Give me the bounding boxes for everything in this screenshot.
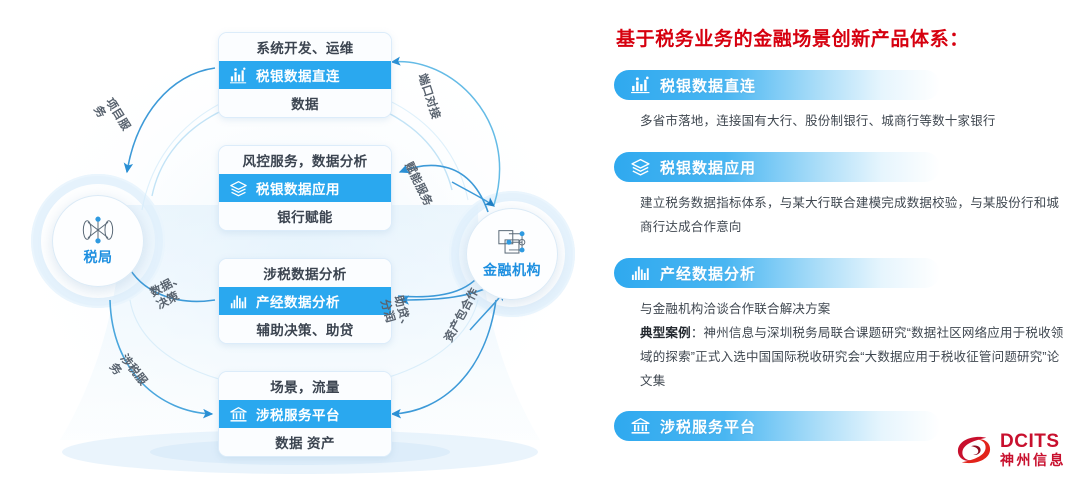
section-header[interactable]: 税银数据直连	[614, 70, 940, 100]
bank-building-icon	[229, 406, 248, 423]
entity-tax-bureau[interactable]: 税局	[52, 195, 144, 287]
case-lead-label: 典型案例	[640, 326, 691, 340]
stacked-layers-icon	[229, 180, 248, 197]
card-middle-row[interactable]: 税银数据应用	[219, 174, 391, 202]
section-industry-analysis: 产经数据分析 与金融机构洽谈合作联合解决方案 典型案例：神州信息与深圳税务局联合…	[614, 258, 1066, 393]
financial-institution-nodes-icon	[495, 228, 529, 258]
section-header[interactable]: 产经数据分析	[614, 258, 940, 288]
card-middle-row[interactable]: 产经数据分析	[219, 287, 391, 315]
card-bottom-label: 银行赋能	[219, 202, 391, 230]
ecosystem-diagram: 税局 金融机构 系统开发、运维	[0, 0, 600, 479]
section-body: 与金融机构洽谈合作联合解决方案 典型案例：神州信息与深圳税务局联合课题研究“数据…	[614, 297, 1066, 393]
card-top-label: 风控服务，数据分析	[219, 146, 391, 174]
section-body: 建立税务数据指标体系，与某大行联合建模完成数据校验，与某股份行和城商行达成合作意…	[614, 191, 1066, 239]
card-bottom-label: 数据	[219, 89, 391, 117]
entity-financial-institution[interactable]: 金融机构	[466, 208, 558, 300]
content-panel: 基于税务业务的金融场景创新产品体系： 税银数据直连 多省市落地，连接国有大行、股…	[600, 0, 1080, 479]
histogram-icon	[229, 293, 248, 310]
bank-building-icon	[630, 417, 651, 435]
logo-en-text: DCITS	[1000, 432, 1066, 451]
section-heading: 产经数据分析	[660, 263, 756, 284]
card-middle-label: 产经数据分析	[256, 291, 340, 311]
section-direct-connection: 税银数据直连 多省市落地，连接国有大行、股份制银行、城商行等数十家银行	[614, 70, 1066, 133]
slide-root: 税局 金融机构 系统开发、运维	[0, 0, 1080, 479]
stacked-layers-icon	[630, 158, 651, 176]
section-heading: 涉税服务平台	[660, 416, 756, 437]
section-heading: 税银数据直连	[660, 75, 756, 96]
logo-cn-text: 神州信息	[1000, 453, 1066, 467]
histogram-icon	[630, 264, 651, 282]
bar-chart-icon	[630, 76, 651, 94]
card-middle-row[interactable]: 涉税服务平台	[219, 400, 391, 428]
entity-tax-bureau-label: 税局	[84, 247, 113, 267]
page-title: 基于税务业务的金融场景创新产品体系：	[616, 24, 969, 51]
card-bottom-label: 辅助决策、助贷	[219, 315, 391, 343]
case-text: ：神州信息与深圳税务局联合课题研究“数据社区网络应用于税收领域的探索”正式入选中…	[640, 326, 1063, 388]
card-middle-row[interactable]: 税银数据直连	[219, 61, 391, 89]
card-middle-label: 涉税服务平台	[256, 404, 340, 424]
section-paragraph: 多省市落地，连接国有大行、股份制银行、城商行等数十家银行	[640, 109, 1066, 133]
section-paragraph: 与金融机构洽谈合作联合解决方案	[640, 297, 1066, 321]
tax-bureau-network-icon	[81, 215, 115, 245]
section-data-application: 税银数据应用 建立税务数据指标体系，与某大行联合建模完成数据校验，与某股份行和城…	[614, 152, 1066, 239]
card-top-label: 场景，流量	[219, 372, 391, 400]
card-top-label: 涉税数据分析	[219, 259, 391, 287]
section-body: 多省市落地，连接国有大行、股份制银行、城商行等数十家银行	[614, 109, 1066, 133]
card-industry-analysis[interactable]: 涉税数据分析 产经数据分析 辅助决策、助贷	[218, 258, 392, 344]
dcits-logo: DCITS 神州信息	[955, 432, 1066, 467]
card-middle-label: 税银数据直连	[256, 65, 340, 85]
bar-chart-icon	[229, 67, 248, 84]
card-direct-connection[interactable]: 系统开发、运维 税银数据直连 数据	[218, 32, 392, 118]
section-header[interactable]: 涉税服务平台	[614, 411, 940, 441]
section-case-paragraph: 典型案例：神州信息与深圳税务局联合课题研究“数据社区网络应用于税收领域的探索”正…	[640, 321, 1066, 393]
logo-wordmark: DCITS 神州信息	[1000, 432, 1066, 467]
card-middle-label: 税银数据应用	[256, 178, 340, 198]
card-data-application[interactable]: 风控服务，数据分析 税银数据应用 银行赋能	[218, 145, 392, 231]
section-paragraph: 建立税务数据指标体系，与某大行联合建模完成数据校验，与某股份行和城商行达成合作意…	[640, 191, 1066, 239]
section-header[interactable]: 税银数据应用	[614, 152, 940, 182]
card-top-label: 系统开发、运维	[219, 33, 391, 61]
card-bottom-label: 数据 资产	[219, 428, 391, 456]
card-service-platform[interactable]: 场景，流量 涉税服务平台 数据 资产	[218, 371, 392, 457]
entity-financial-institution-label: 金融机构	[483, 260, 541, 280]
dcits-swirl-icon	[955, 433, 993, 467]
section-heading: 税银数据应用	[660, 157, 756, 178]
